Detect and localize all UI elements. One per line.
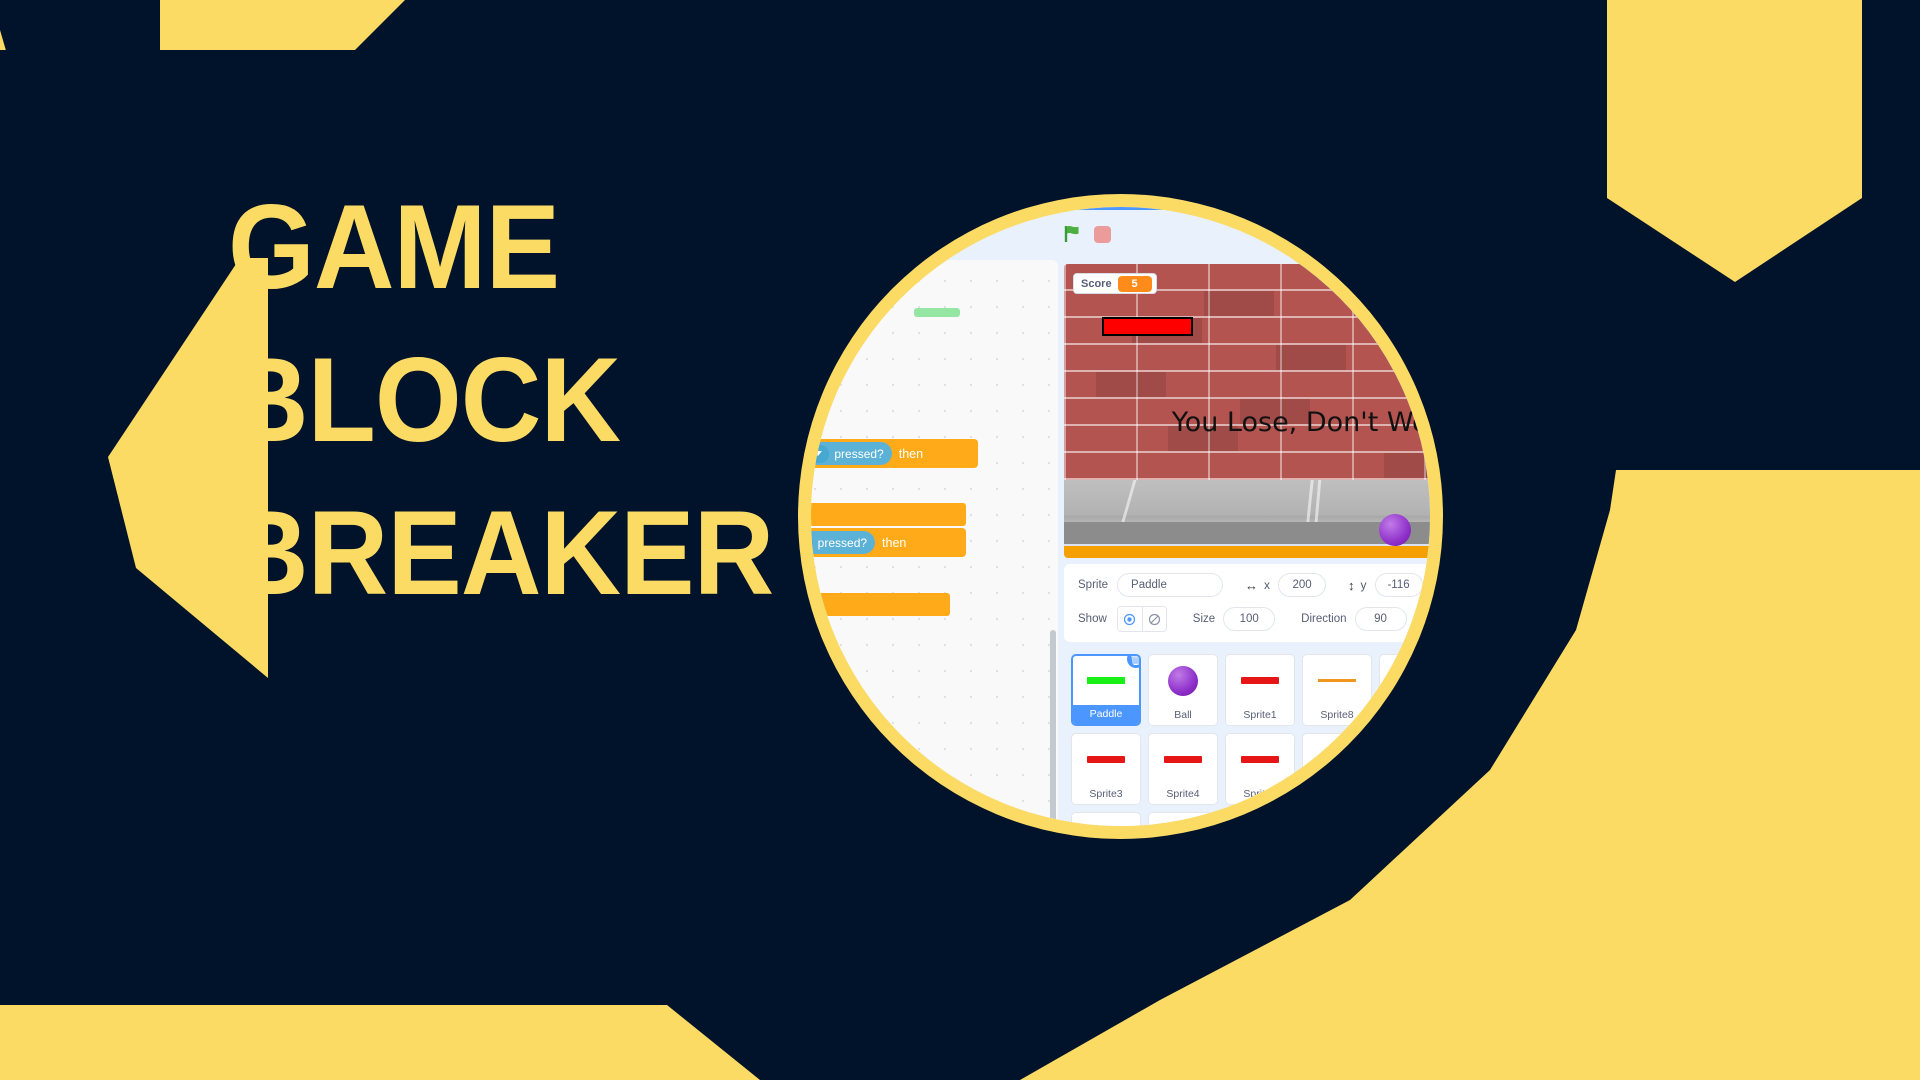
sprite-thumbnail bbox=[1149, 655, 1217, 706]
sprite-list-panel: 🗑PaddleBallSprite1Sprite8Sprite2Sprite3S… bbox=[1064, 646, 1430, 826]
then-label-1: then bbox=[892, 447, 932, 461]
scratch-toolbar bbox=[811, 210, 1430, 260]
sprite-card-sprite7[interactable]: Sprite7 bbox=[1379, 733, 1430, 805]
sprite-field-label: Sprite bbox=[1078, 579, 1108, 591]
sprite-card-you-win[interactable]: Congratulations, You Win!You Win bbox=[1071, 812, 1141, 826]
sprite-card-you-lose[interactable]: You Lose, Don't WorryYou Lose bbox=[1148, 812, 1218, 826]
sprite-card-ball[interactable]: Ball bbox=[1148, 654, 1218, 726]
decor-bottom-left-band bbox=[0, 1005, 760, 1080]
decor-bottom-right-notch bbox=[0, 0, 160, 150]
sprite-size-input[interactable]: 100 bbox=[1223, 607, 1275, 631]
sprite-name-label: Sprite6 bbox=[1303, 785, 1371, 804]
stage-bottom-bar bbox=[1064, 546, 1430, 558]
pressed-label-1: pressed? bbox=[834, 447, 883, 461]
sprite-grid: 🗑PaddleBallSprite1Sprite8Sprite2Sprite3S… bbox=[1071, 654, 1430, 826]
sprite-name-label: Sprite4 bbox=[1149, 785, 1217, 804]
sprite-thumbnail bbox=[1303, 655, 1371, 706]
purple-ball-thumb-icon bbox=[1168, 666, 1198, 696]
sprite-direction-input[interactable]: 90 bbox=[1355, 607, 1407, 631]
size-label: Size bbox=[1193, 613, 1215, 625]
vertical-arrow-icon: ↕ bbox=[1348, 578, 1355, 593]
score-label: Score bbox=[1081, 278, 1112, 290]
scratch-editor: ow pressed? then w pressed? th bbox=[811, 207, 1430, 826]
title-line-3: BREAKER bbox=[228, 496, 823, 611]
sprite-thumbnail bbox=[1380, 734, 1430, 785]
sprite-name-label: Sprite7 bbox=[1380, 785, 1430, 804]
red-bar-thumb-icon bbox=[1087, 756, 1125, 763]
y-label: y bbox=[1361, 578, 1367, 592]
sprite-name-label: Sprite3 bbox=[1072, 785, 1140, 804]
orange-bar-thumb-icon bbox=[1318, 679, 1356, 682]
brick-wall-backdrop bbox=[1064, 264, 1430, 480]
code-workspace-scrollbar[interactable] bbox=[1050, 630, 1056, 826]
sprite-name-label: Sprite8 bbox=[1303, 706, 1371, 725]
sprite-card-sprite5[interactable]: Sprite5 bbox=[1225, 733, 1295, 805]
curb bbox=[1064, 522, 1430, 544]
title-line-1: GAME bbox=[228, 190, 823, 305]
sprite-thumbnail: Congratulations, You Win! bbox=[1072, 813, 1140, 826]
sprite-name-label: Sprite5 bbox=[1226, 785, 1294, 804]
sprite-card-paddle[interactable]: 🗑Paddle bbox=[1071, 654, 1141, 726]
x-label: x bbox=[1264, 578, 1270, 592]
sprite-card-sprite8[interactable]: Sprite8 bbox=[1302, 654, 1372, 726]
red-bar-thumb-icon bbox=[1241, 756, 1279, 763]
green-flag-icon[interactable] bbox=[1064, 224, 1084, 244]
eye-visible-icon[interactable] bbox=[1118, 607, 1142, 631]
sprite-card-sprite3[interactable]: Sprite3 bbox=[1071, 733, 1141, 805]
sprite-name-input[interactable]: Paddle bbox=[1117, 573, 1223, 597]
stage-display[interactable]: Score 5 You Lose, Don't Worry bbox=[1064, 264, 1430, 558]
sprite-name-label: Sprite1 bbox=[1226, 706, 1294, 725]
key-dropdown-1[interactable]: ow bbox=[811, 445, 829, 463]
show-label: Show bbox=[1078, 613, 1107, 625]
direction-label: Direction bbox=[1301, 613, 1346, 625]
code-block-fragment-green[interactable] bbox=[914, 308, 960, 317]
red-bar-thumb-icon bbox=[1318, 756, 1356, 763]
screenshot-circle-inner: ow pressed? then w pressed? th bbox=[811, 207, 1430, 826]
sprite-info-panel: Sprite Paddle ↔ x 200 ↕ y -116 Show bbox=[1064, 564, 1430, 642]
score-monitor[interactable]: Score 5 bbox=[1073, 273, 1157, 294]
sprite-x-input[interactable]: 200 bbox=[1278, 573, 1326, 597]
green-bar-thumb-icon bbox=[1087, 677, 1125, 684]
sprite-name-label: Sprite2 bbox=[1380, 706, 1430, 725]
pressed-label-2: pressed? bbox=[818, 536, 867, 550]
sprite-card-sprite2[interactable]: Sprite2 bbox=[1379, 654, 1430, 726]
red-bar-thumb-icon bbox=[1164, 756, 1202, 763]
sprite-thumbnail bbox=[1226, 734, 1294, 785]
sprite-info-row-show: Show Size 100 Direction 90 bbox=[1078, 606, 1407, 632]
sprite-thumbnail bbox=[1226, 655, 1294, 706]
code-block-foot-2[interactable] bbox=[811, 593, 950, 616]
sprite-card-sprite6[interactable]: Sprite6 bbox=[1302, 733, 1372, 805]
code-workspace[interactable]: ow pressed? then w pressed? th bbox=[811, 260, 1058, 826]
purple-ball-sprite[interactable] bbox=[1379, 514, 1411, 546]
key-dropdown-2[interactable]: w bbox=[811, 534, 813, 552]
score-value: 5 bbox=[1118, 276, 1152, 292]
code-block-foot-1[interactable] bbox=[811, 503, 966, 526]
then-label-2: then bbox=[875, 536, 915, 550]
sprite-thumbnail bbox=[1149, 734, 1217, 785]
red-brick-sprite[interactable] bbox=[1102, 317, 1193, 336]
sprite-thumbnail: You Lose, Don't Worry bbox=[1149, 813, 1217, 826]
screenshot-circle-frame: ow pressed? then w pressed? th bbox=[798, 194, 1443, 839]
lose-message-text: You Lose, Don't Worry bbox=[1109, 407, 1430, 438]
stop-button-icon[interactable] bbox=[1094, 226, 1111, 243]
sprite-y-input[interactable]: -116 bbox=[1375, 573, 1423, 597]
code-block-if-2[interactable]: w pressed? then bbox=[811, 528, 966, 557]
show-toggle-group[interactable] bbox=[1117, 606, 1167, 632]
code-block-if-1[interactable]: ow pressed? then bbox=[811, 439, 978, 468]
sprite-thumbnail bbox=[1072, 734, 1140, 785]
sensing-key-pressed-block-1[interactable]: ow pressed? bbox=[811, 442, 892, 465]
red-bar-thumb-icon bbox=[1241, 677, 1279, 684]
decor-top-right-pennant bbox=[1607, 0, 1862, 282]
sprite-thumbnail bbox=[1303, 734, 1371, 785]
red-bar-thumb-icon bbox=[1395, 677, 1430, 684]
sprite-card-sprite1[interactable]: Sprite1 bbox=[1225, 654, 1295, 726]
poster-title: GAME BLOCK BREAKER bbox=[228, 190, 823, 650]
sprite-thumbnail bbox=[1380, 655, 1430, 706]
sensing-key-pressed-block-2[interactable]: w pressed? bbox=[811, 531, 875, 554]
chevron-down-icon bbox=[814, 451, 822, 456]
horizontal-arrow-icon: ↔ bbox=[1245, 578, 1258, 593]
sprite-info-row-name: Sprite Paddle ↔ x 200 ↕ y -116 bbox=[1078, 573, 1423, 597]
sprite-name-label: Ball bbox=[1149, 706, 1217, 725]
title-line-2: BLOCK bbox=[228, 343, 823, 458]
eye-hidden-icon[interactable] bbox=[1142, 607, 1166, 631]
red-bar-thumb-icon bbox=[1395, 756, 1430, 763]
sprite-card-sprite4[interactable]: Sprite4 bbox=[1148, 733, 1218, 805]
sprite-name-label: Paddle bbox=[1073, 705, 1139, 724]
